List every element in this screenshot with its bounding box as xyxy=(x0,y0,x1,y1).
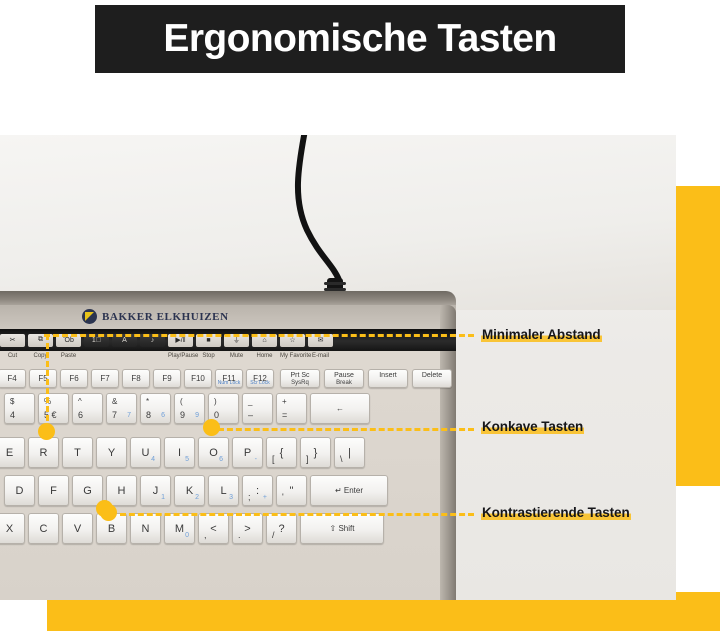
key-j[interactable]: J1 xyxy=(140,475,171,506)
key-h[interactable]: H xyxy=(106,475,137,506)
key-k[interactable]: K2 xyxy=(174,475,205,506)
key-shift[interactable]: ⇧ Shift xyxy=(300,513,384,544)
key-8[interactable]: *86 xyxy=(140,393,171,424)
key-f8[interactable]: F8 xyxy=(122,369,150,388)
media-key-label: E-mail xyxy=(308,351,333,364)
cut-icon[interactable]: ✂ xyxy=(0,334,25,347)
media-key-label: Cut xyxy=(0,351,25,364)
nav-key-row: Prt ScSysRqPauseBreakInsertDelete xyxy=(280,369,452,388)
key-f6[interactable]: F6 xyxy=(60,369,88,388)
key-d[interactable]: D xyxy=(4,475,35,506)
key-u[interactable]: U4 xyxy=(130,437,161,468)
callout-line-minimaler-abstand xyxy=(44,334,474,337)
key-o[interactable]: O6 xyxy=(198,437,229,468)
callout-line-kontrastierende-tasten xyxy=(120,513,474,516)
key-p[interactable]: P- xyxy=(232,437,263,468)
key-y[interactable]: Y xyxy=(96,437,127,468)
brand-name: BAKKER ELKHUIZEN xyxy=(102,311,229,323)
brand: BAKKER ELKHUIZEN xyxy=(82,309,229,324)
callout-label-konkave-tasten: Konkave Tasten xyxy=(481,419,584,434)
key-t[interactable]: T xyxy=(62,437,93,468)
key-|[interactable]: |\ xyxy=(334,437,365,468)
media-key-label: Paste xyxy=(56,351,81,364)
key-m[interactable]: M0 xyxy=(164,513,195,544)
usb-cable-icon xyxy=(255,135,395,300)
function-key-row: F4F5F6F7F8F9F10F11Num LockF12Scr Lock xyxy=(0,369,274,388)
key-i[interactable]: I5 xyxy=(164,437,195,468)
key-4[interactable]: $4 xyxy=(4,393,35,424)
callout-label-minimaler-abstand: Minimaler Abstand xyxy=(481,327,602,342)
key-f11[interactable]: F11Num Lock xyxy=(215,369,243,388)
key-e[interactable]: E xyxy=(0,437,25,468)
key-=[interactable]: += xyxy=(276,393,307,424)
key-9[interactable]: (99 xyxy=(174,393,205,424)
key-f10[interactable]: F10 xyxy=(184,369,212,388)
product-feature-graphic: Ergonomische Tasten BAKKER ELKHUIZEN ✂⧉Ὄ… xyxy=(0,0,720,636)
key-r[interactable]: R xyxy=(28,437,59,468)
key-5€[interactable]: %5 € xyxy=(38,393,69,424)
media-key-label: Copy xyxy=(28,351,53,364)
media-key-label xyxy=(112,351,137,364)
key-v[interactable]: V xyxy=(62,513,93,544)
key-–[interactable]: _– xyxy=(242,393,273,424)
key-delete[interactable]: Delete xyxy=(412,369,452,388)
key-"[interactable]: "' xyxy=(276,475,307,506)
qwerty-key-row: ERTYU4I5O6P-{[}]|\ xyxy=(0,437,365,468)
key-x[interactable]: X xyxy=(0,513,25,544)
media-key-label: Play/Pause xyxy=(168,351,193,364)
media-key-label xyxy=(140,351,165,364)
callout-dot-minimaler-abstand xyxy=(38,423,55,440)
media-key-label xyxy=(84,351,109,364)
page-title: Ergonomische Tasten xyxy=(163,17,556,61)
media-key-labels: CutCopyPastePlay/PauseStopMuteHomeMy Fav… xyxy=(0,351,456,364)
callout-label-kontrastierende-tasten: Kontrastierende Tasten xyxy=(481,505,631,520)
media-key-label: My Favorite xyxy=(280,351,305,364)
media-key-strip: ✂⧉Ὄb1⃣A♪▶/‖■⏚⌂☆✉ xyxy=(0,329,456,351)
media-key-label: Stop xyxy=(196,351,221,364)
key-f4[interactable]: F4 xyxy=(0,369,26,388)
key-:[interactable]: :;+ xyxy=(242,475,273,506)
key-n[interactable]: N xyxy=(130,513,161,544)
number-key-row: $4%5 €^6&77*86(99)0_–+=← xyxy=(4,393,370,424)
key-{[interactable]: {[ xyxy=(266,437,297,468)
title-banner: Ergonomische Tasten xyxy=(95,5,625,73)
key-f[interactable]: F xyxy=(38,475,69,506)
keyboard: BAKKER ELKHUIZEN ✂⧉Ὄb1⃣A♪▶/‖■⏚⌂☆✉ CutCop… xyxy=(0,291,456,600)
key-enter[interactable]: ↵ Enter xyxy=(310,475,388,506)
key-f7[interactable]: F7 xyxy=(91,369,119,388)
key-f9[interactable]: F9 xyxy=(153,369,181,388)
key-pause[interactable]: PauseBreak xyxy=(324,369,364,388)
media-key-label: Home xyxy=(252,351,277,364)
key-<[interactable]: <, xyxy=(198,513,229,544)
bottom-key-row: XCVBNM0<,>.?/⇧ Shift xyxy=(0,513,384,544)
key-f12[interactable]: F12Scr Lock xyxy=(246,369,274,388)
media-key-label: Mute xyxy=(224,351,249,364)
callout-line-konkave-tasten xyxy=(218,428,474,431)
key-6[interactable]: ^6 xyxy=(72,393,103,424)
key->[interactable]: >. xyxy=(232,513,263,544)
callout-dot-kontrastierende-tasten xyxy=(100,504,117,521)
callout-dot-konkave-tasten xyxy=(203,419,220,436)
key-l[interactable]: L3 xyxy=(208,475,239,506)
key-f5[interactable]: F5 xyxy=(29,369,57,388)
callout-line-vertical-minimaler-abstand xyxy=(46,334,49,430)
key-prt-sc[interactable]: Prt ScSysRq xyxy=(280,369,320,388)
key-insert[interactable]: Insert xyxy=(368,369,408,388)
product-photo: BAKKER ELKHUIZEN ✂⧉Ὄb1⃣A♪▶/‖■⏚⌂☆✉ CutCop… xyxy=(0,135,676,600)
key-7[interactable]: &77 xyxy=(106,393,137,424)
key-c[interactable]: C xyxy=(28,513,59,544)
home-key-row: DFGHJ1K2L3:;+"'↵ Enter xyxy=(4,475,388,506)
key-}[interactable]: }] xyxy=(300,437,331,468)
bakker-elkhuizen-logo-icon xyxy=(82,309,97,324)
key-backspace[interactable]: ← xyxy=(310,393,370,424)
accent-block-right xyxy=(676,186,720,486)
key-?[interactable]: ?/ xyxy=(266,513,297,544)
